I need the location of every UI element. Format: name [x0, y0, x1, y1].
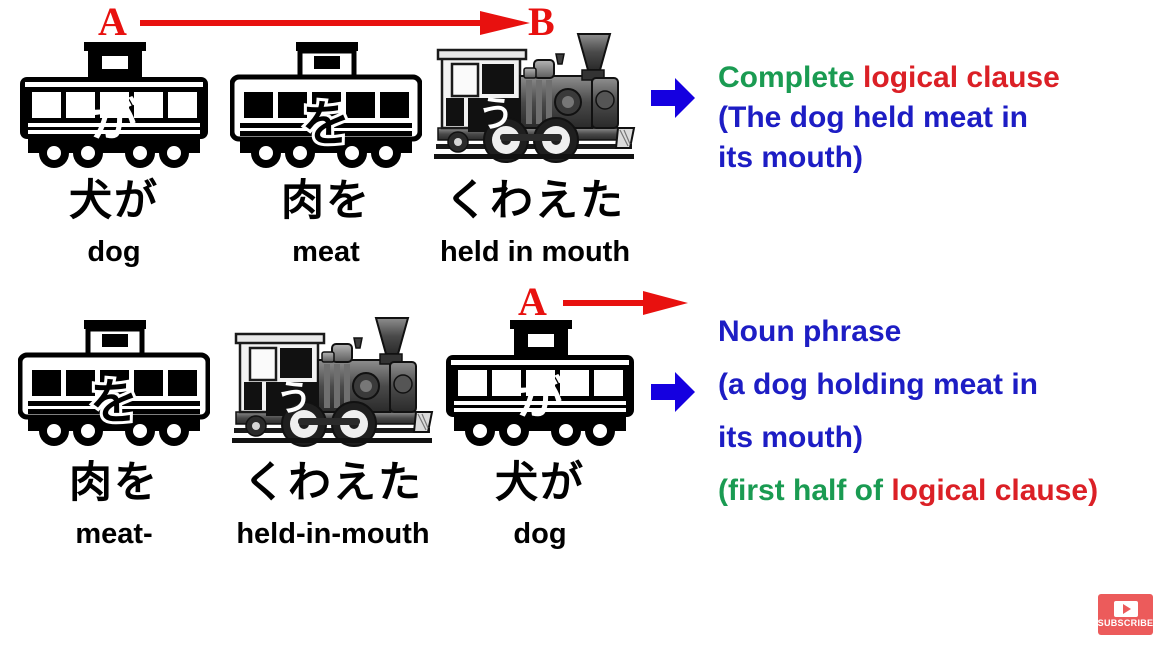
slide-canvas: A B — [0, 0, 1167, 656]
caption-jp-1-2: 犬が — [444, 462, 636, 505]
explanation-top-line-2: its mouth) — [718, 138, 1060, 178]
caption-jp-0-2: くわえた — [424, 180, 646, 223]
explanation-top-line-0-seg-1: logical clause — [863, 61, 1060, 94]
particle-glyph-ga: が — [517, 371, 563, 425]
red-arrow-bottom — [563, 288, 688, 318]
explanation-top-line-1: (The dog held meat in — [718, 98, 1060, 138]
train-car-ga-bottom: が — [444, 318, 636, 448]
caption-en-1-1: held-in-mouth — [222, 520, 444, 549]
train-locomotive-u-bottom: う — [228, 312, 438, 454]
caption-jp-1-0: 肉を — [18, 462, 210, 505]
subscribe-label: SUBSCRIBE — [1098, 619, 1154, 628]
play-icon — [1114, 601, 1138, 617]
explanation-top-line-2-seg-0: its mouth) — [718, 141, 863, 174]
caption-en-0-0: dog — [18, 238, 210, 267]
marker-a-bottom: A — [518, 282, 547, 322]
explanation-top-line-0-seg-0: Complete — [718, 61, 863, 94]
marker-a-top: A — [98, 2, 127, 42]
particle-glyph-u: う — [478, 94, 514, 135]
particle-glyph-u: う — [276, 378, 312, 419]
caption-jp-0-0: 犬が — [18, 180, 210, 223]
caption-jp-1-1: くわえた — [222, 462, 444, 505]
explanation-bottom-line-2-seg-0: its mouth) — [718, 421, 863, 454]
explanation-bottom-line-1: (a dog holding meat in — [718, 358, 1098, 411]
explanation-bottom: Noun phrase (a dog holding meat in its m… — [718, 305, 1098, 517]
explanation-bottom-line-2: its mouth) — [718, 411, 1098, 464]
explanation-bottom-line-0: Noun phrase — [718, 305, 1098, 358]
blue-arrow-bottom — [649, 368, 697, 416]
explanation-bottom-line-0-seg-0: Noun phrase — [718, 315, 901, 348]
explanation-bottom-line-3-seg-1: logical clause) — [891, 474, 1098, 507]
explanation-top-line-0: Complete logical clause — [718, 58, 1060, 98]
train-car-wo-top: を — [230, 40, 422, 170]
caption-en-1-2: dog — [444, 520, 636, 549]
particle-glyph-ga: が — [91, 93, 137, 147]
explanation-top-line-1-seg-0: (The dog held meat in — [718, 101, 1028, 134]
particle-glyph-wo: を — [90, 374, 138, 430]
subscribe-button[interactable]: SUBSCRIBE — [1098, 594, 1153, 635]
explanation-bottom-line-3-seg-0: (first half of — [718, 474, 891, 507]
train-car-wo-bottom: を — [18, 318, 210, 448]
explanation-bottom-line-3: (first half of logical clause) — [718, 464, 1098, 517]
caption-en-0-2: held in mouth — [424, 238, 646, 267]
explanation-bottom-line-1-seg-0: (a dog holding meat in — [718, 368, 1038, 401]
train-car-ga-top: が — [18, 40, 210, 170]
caption-jp-0-1: 肉を — [230, 180, 422, 223]
particle-glyph-wo: を — [302, 96, 350, 152]
caption-en-0-1: meat — [230, 238, 422, 267]
train-locomotive-u-top: う — [430, 28, 640, 170]
explanation-top: Complete logical clause (The dog held me… — [718, 58, 1060, 178]
caption-en-1-0: meat- — [18, 520, 210, 549]
blue-arrow-top — [649, 74, 697, 122]
